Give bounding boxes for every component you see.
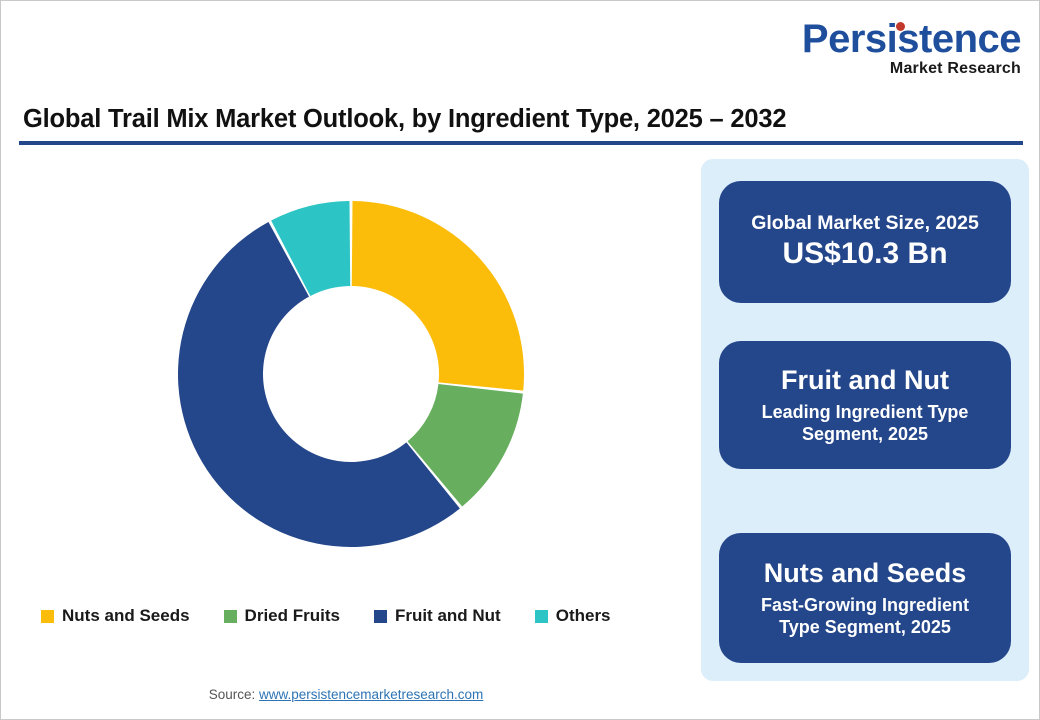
fastest-growing-caption-line-1: Fast-Growing Ingredient xyxy=(761,594,969,617)
highlight-card-market-size: Global Market Size, 2025 US$10.3 Bn xyxy=(719,181,1011,303)
donut-chart xyxy=(177,200,525,548)
market-size-value: US$10.3 Bn xyxy=(782,236,947,272)
fastest-growing-segment-name: Nuts and Seeds xyxy=(764,557,967,589)
legend-label-others: Others xyxy=(556,606,611,626)
legend-item-dried-fruits: Dried Fruits xyxy=(224,606,340,626)
donut-slices xyxy=(178,201,524,547)
company-logo: Persistence Market Research xyxy=(791,19,1021,77)
page-title: Global Trail Mix Market Outlook, by Ingr… xyxy=(23,105,786,134)
legend-item-fruit-and-nut: Fruit and Nut xyxy=(374,606,501,626)
legend-swatch-dried-fruits xyxy=(224,610,237,623)
legend-swatch-others xyxy=(535,610,548,623)
logo-main-text: Persistence xyxy=(802,17,1021,61)
source-footer: Source: www.persistencemarketresearch.co… xyxy=(1,687,691,702)
chart-legend: Nuts and Seeds Dried Fruits Fruit and Nu… xyxy=(41,603,681,629)
leading-segment-caption-line-2: Segment, 2025 xyxy=(802,423,928,446)
fastest-growing-caption-line-2: Type Segment, 2025 xyxy=(779,616,951,639)
leading-segment-name: Fruit and Nut xyxy=(781,364,949,396)
logo-dot-icon xyxy=(896,22,905,31)
legend-label-fruit-and-nut: Fruit and Nut xyxy=(395,606,501,626)
legend-label-dried-fruits: Dried Fruits xyxy=(245,606,340,626)
source-link[interactable]: www.persistencemarketresearch.com xyxy=(259,687,483,702)
donut-slice-nuts-and-seeds[interactable] xyxy=(352,201,524,391)
leading-segment-caption-line-1: Leading Ingredient Type xyxy=(762,401,969,424)
highlight-card-leading-segment: Fruit and Nut Leading Ingredient Type Se… xyxy=(719,341,1011,469)
legend-swatch-fruit-and-nut xyxy=(374,610,387,623)
legend-item-others: Others xyxy=(535,606,611,626)
logo-wordmark: Persistence xyxy=(791,19,1021,59)
title-underline-rule xyxy=(19,141,1023,145)
source-prefix: Source: xyxy=(209,687,259,702)
market-size-heading: Global Market Size, 2025 xyxy=(751,212,979,236)
chart-area xyxy=(1,161,691,641)
logo-subtitle: Market Research xyxy=(791,61,1021,77)
infographic-page: Persistence Market Research Global Trail… xyxy=(0,0,1040,720)
highlights-panel: Global Market Size, 2025 US$10.3 Bn Frui… xyxy=(701,159,1029,681)
highlight-card-fastest-growing-segment: Nuts and Seeds Fast-Growing Ingredient T… xyxy=(719,533,1011,663)
legend-label-nuts-and-seeds: Nuts and Seeds xyxy=(62,606,190,626)
legend-item-nuts-and-seeds: Nuts and Seeds xyxy=(41,606,190,626)
legend-swatch-nuts-and-seeds xyxy=(41,610,54,623)
